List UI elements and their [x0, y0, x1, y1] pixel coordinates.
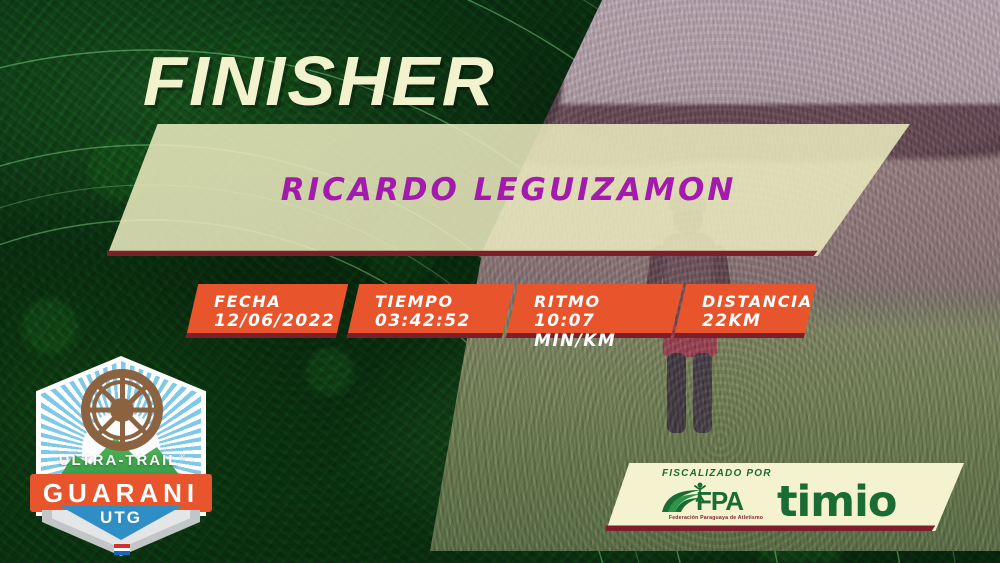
fpa-full-name: Federación Paraguaya de Atletismo	[660, 515, 772, 521]
athlete-name: RICARDO LEGUIZAMON	[107, 124, 910, 256]
fpa-acronym: FPA	[696, 486, 743, 517]
badge-ultra-trail-text: ULTRA-TRAIL®	[48, 452, 198, 469]
stat-label-fecha: FECHA	[214, 292, 342, 311]
registered-mark: ®	[179, 452, 187, 461]
stat-box-fecha: FECHA 12/06/2022	[186, 284, 348, 338]
stat-label-ritmo: RITMO	[534, 292, 677, 311]
fpa-logo: FPA Federación Paraguaya de Atletismo	[660, 482, 770, 522]
ultra-trail-guarani-logo: ULTRA-TRAIL® GUARANI UTG	[30, 356, 212, 552]
stat-label-distancia: DISTANCIA	[702, 292, 810, 311]
stat-box-tiempo: TIEMPO 03:42:52	[347, 284, 514, 338]
wheel-hub-icon	[110, 398, 134, 422]
ultra-trail-label: ULTRA-TRAIL	[59, 452, 180, 469]
stat-value-tiempo: 03:42:52	[375, 311, 508, 331]
timio-logo: timio	[777, 477, 896, 527]
page-title: FINISHER	[143, 41, 496, 121]
finisher-poster: FINISHER RICARDO LEGUIZAMON FECHA 12/06/…	[0, 0, 1000, 563]
stat-value-distancia: 22KM	[702, 311, 810, 331]
stat-value-fecha: 12/06/2022	[214, 311, 342, 331]
stat-label-tiempo: TIEMPO	[375, 292, 508, 311]
stats-row: FECHA 12/06/2022 TIEMPO 03:42:52 RITMO 1…	[0, 284, 1000, 346]
paraguay-flag-icon	[114, 544, 130, 555]
fiscalizado-label: FISCALIZADO POR	[662, 468, 772, 479]
stat-box-ritmo: RITMO 10:07 MIN/KM	[506, 284, 683, 338]
stat-box-distancia: DISTANCIA 22KM	[674, 284, 816, 338]
badge-abbrev: UTG	[60, 508, 182, 528]
stat-value-ritmo: 10:07 MIN/KM	[534, 311, 677, 351]
